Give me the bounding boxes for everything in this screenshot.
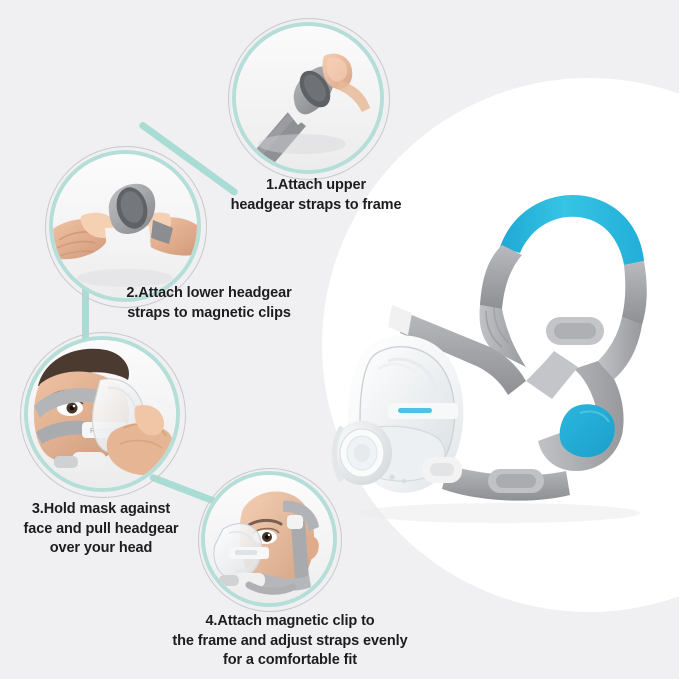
product-art — [330, 165, 679, 525]
mask-elbow-connector — [332, 421, 392, 485]
product-image — [330, 165, 679, 525]
step4-photo — [205, 475, 333, 603]
infographic-canvas: 1.Attach upper headgear straps to frame — [0, 0, 679, 679]
step2-caption: 2.Attach lower headgear straps to magnet… — [94, 284, 324, 323]
step4-photo-art — [205, 475, 333, 603]
step3-photo-art: ResMed — [28, 340, 176, 488]
strap-adjuster-tab-lower — [488, 469, 544, 493]
step4-caption: 4.Attach magnetic clip to the frame and … — [150, 612, 430, 671]
step3-caption: 3.Hold mask against face and pull headge… — [8, 500, 194, 559]
step3-photo: ResMed — [28, 340, 176, 488]
magnetic-clip — [422, 457, 462, 483]
step2-photo — [53, 154, 197, 298]
step2-photo-art — [53, 154, 197, 298]
step1-photo-art — [236, 26, 380, 170]
step1-photo — [236, 26, 380, 170]
strap-adjuster-tab-upper — [546, 317, 604, 345]
